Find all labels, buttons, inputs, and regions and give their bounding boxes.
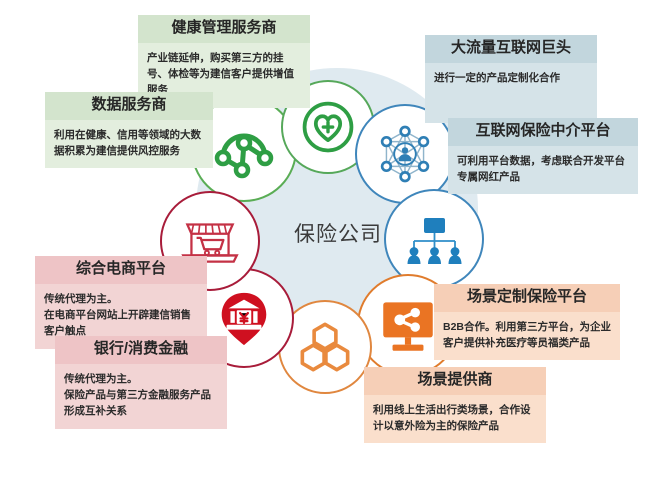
card-bank-finance: 银行/消费金融 传统代理为主。 保险产品与第三方金融服务产品形成互补关系 — [55, 336, 227, 429]
card-scenario-insurance-body: B2B合作。利用第三方平台，为企业客户提供补充医疗等员福类产品 — [434, 312, 620, 361]
card-scenario-provider-body: 利用线上生活出行类场景，合作设计以意外险为主的保险产品 — [364, 395, 546, 444]
card-insurance-broker-body: 可利用平台数据，考虑联合开发平台专属网红产品 — [448, 146, 638, 195]
card-bank-finance-body: 传统代理为主。 保险产品与第三方金融服务产品形成互补关系 — [55, 364, 227, 429]
org-chart-icon — [402, 207, 466, 271]
card-bank-finance-title: 银行/消费金融 — [55, 336, 227, 364]
card-ecommerce-platform-title: 综合电商平台 — [35, 256, 207, 284]
card-insurance-broker-title: 互联网保险中介平台 — [448, 118, 638, 146]
infographic-canvas: 保险公司 — [0, 0, 650, 477]
card-data-provider-title: 数据服务商 — [45, 92, 213, 120]
card-internet-giant-title: 大流量互联网巨头 — [425, 35, 597, 63]
card-scenario-provider-title: 场景提供商 — [364, 367, 546, 395]
network-person-icon — [372, 121, 438, 187]
hexagon-cluster-icon — [296, 318, 354, 376]
card-health-title: 健康管理服务商 — [138, 15, 310, 43]
card-scenario-provider: 场景提供商 利用线上生活出行类场景，合作设计以意外险为主的保险产品 — [364, 367, 546, 443]
card-internet-giant: 大流量互联网巨头 进行一定的产品定制化合作 — [425, 35, 597, 123]
card-internet-giant-body: 进行一定的产品定制化合作 — [425, 63, 597, 123]
card-data-provider-body: 利用在健康、信用等领域的大数据积累为建信提供风控服务 — [45, 120, 213, 169]
card-ecommerce-platform: 综合电商平台 传统代理为主。 在电商平台网站上开辟建信销售客户触点 — [35, 256, 207, 349]
node-graph-icon — [212, 117, 276, 181]
card-data-provider: 数据服务商 利用在健康、信用等领域的大数据积累为建信提供风控服务 — [45, 92, 213, 168]
card-scenario-insurance: 场景定制保险平台 B2B合作。利用第三方平台，为企业客户提供补充医疗等员福类产品 — [434, 284, 620, 360]
monitor-share-icon — [375, 292, 441, 358]
card-scenario-insurance-title: 场景定制保险平台 — [434, 284, 620, 312]
card-insurance-broker: 互联网保险中介平台 可利用平台数据，考虑联合开发平台专属网红产品 — [448, 118, 638, 194]
